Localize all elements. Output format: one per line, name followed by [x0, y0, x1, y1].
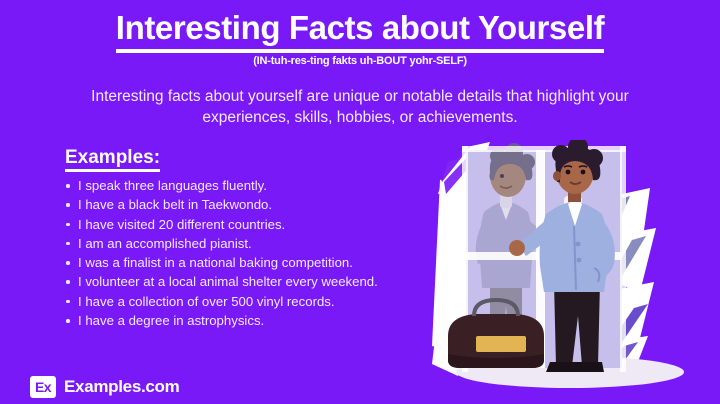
infographic-page: Interesting Facts about Yourself (IN-tuh… — [0, 0, 720, 404]
page-title-container: Interesting Facts about Yourself — [0, 8, 720, 53]
list-item: I have a black belt in Taekwondo. — [65, 195, 430, 214]
brand-logo: Ex Examples.com — [30, 376, 179, 398]
logo-mark-icon: Ex — [30, 376, 56, 398]
list-item: I am an accomplished pianist. — [65, 234, 430, 253]
definition-text: Interesting facts about yourself are uni… — [60, 86, 660, 128]
list-item: I was a finalist in a national baking co… — [65, 253, 430, 272]
list-item: I speak three languages fluently. — [65, 176, 430, 195]
list-item: I have visited 20 different countries. — [65, 215, 430, 234]
illustration-person-looking-in-mirror — [418, 140, 720, 404]
logo-wordmark: Examples.com — [64, 377, 179, 397]
pronunciation-text: (IN-tuh-res-ting fakts uh-BOUT yohr-SELF… — [0, 55, 720, 67]
examples-list: I speak three languages fluently. I have… — [65, 176, 430, 330]
list-item: I volunteer at a local animal shelter ev… — [65, 272, 430, 291]
examples-heading: Examples: — [65, 147, 160, 172]
list-item: I have a degree in astrophysics. — [65, 311, 430, 330]
list-item: I have a collection of over 500 vinyl re… — [65, 292, 430, 311]
page-title: Interesting Facts about Yourself — [116, 8, 604, 53]
